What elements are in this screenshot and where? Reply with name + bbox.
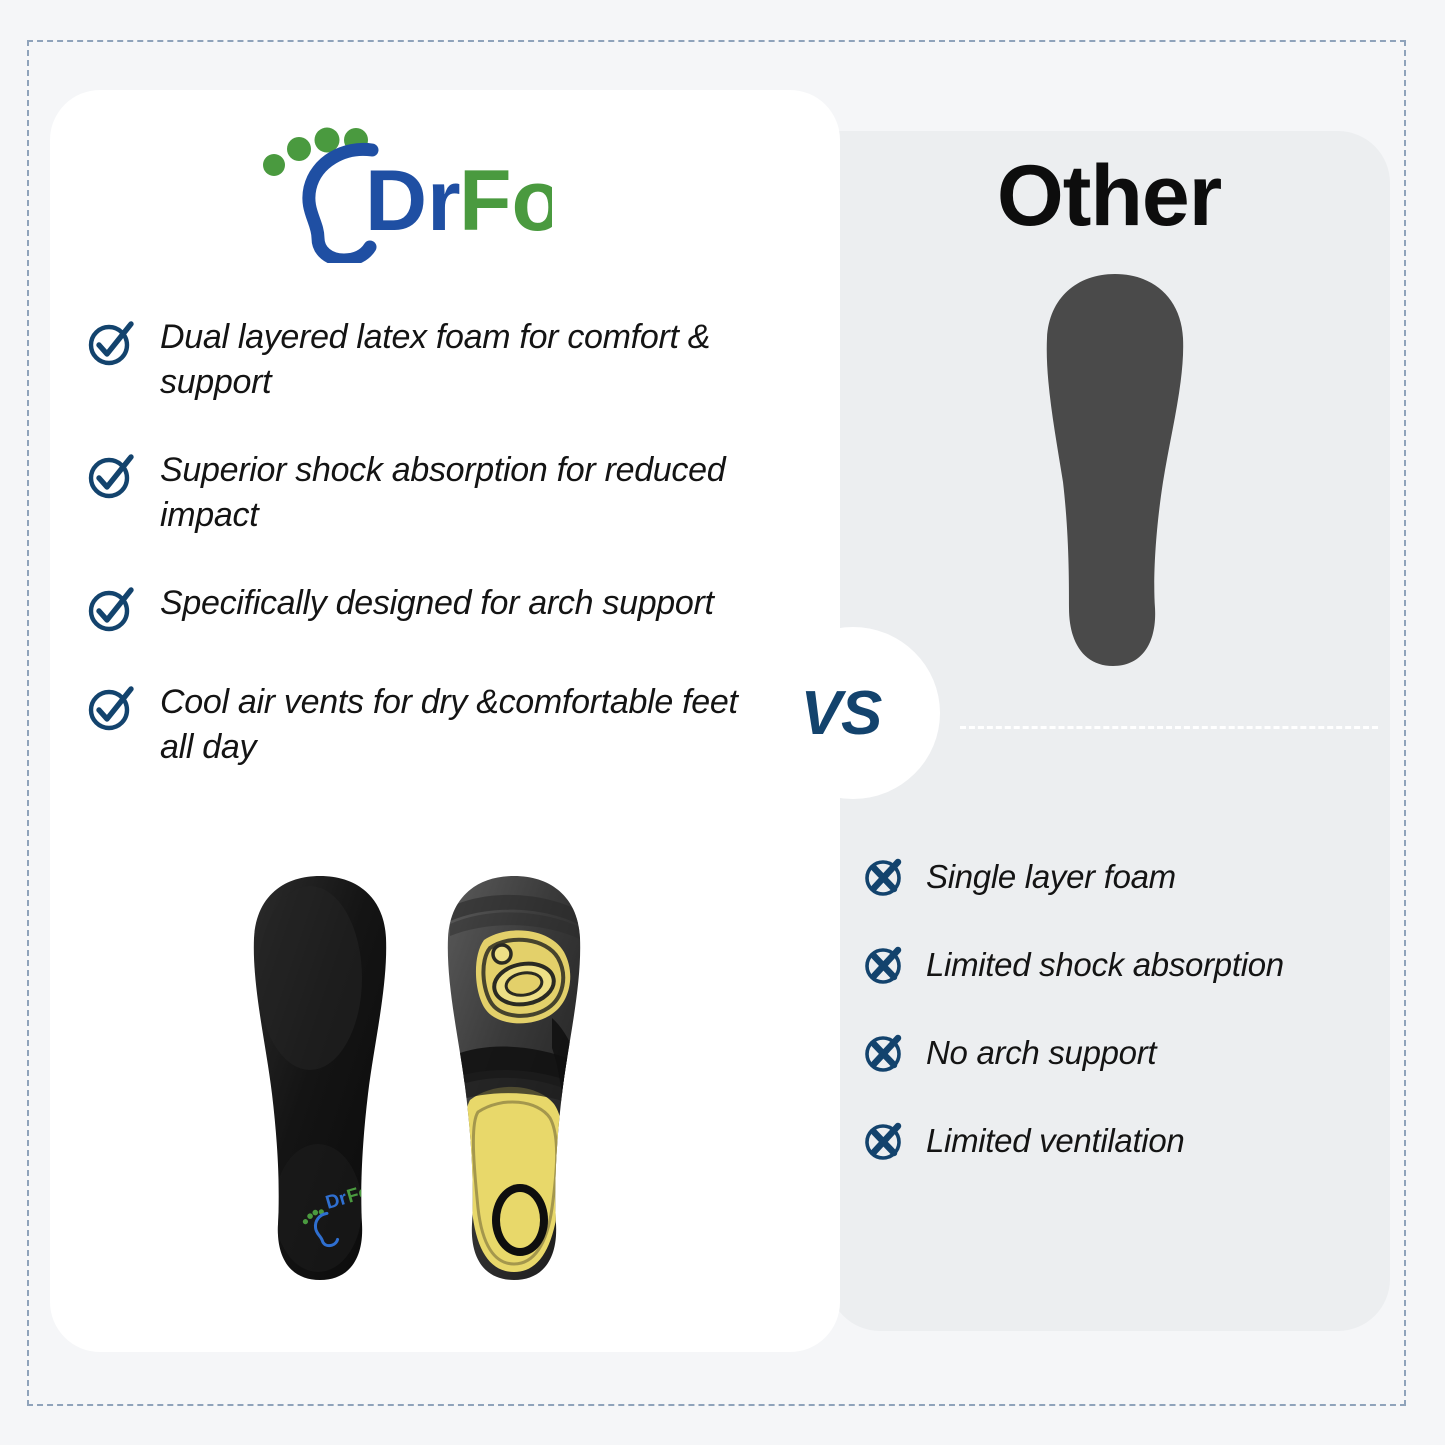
con-label: No arch support	[926, 1033, 1156, 1073]
vs-label: VS	[801, 678, 882, 749]
feature-item: Dual layered latex foam for comfort & su…	[88, 315, 778, 405]
black-insole: Dr Foot	[252, 868, 399, 1288]
check-circle-icon	[88, 587, 134, 633]
logo-text-dr: Dr	[365, 153, 461, 249]
feature-list: Dual layered latex foam for comfort & su…	[88, 315, 778, 770]
cons-list: Single layer foam Limited shock absorpti…	[864, 855, 1374, 1163]
drfoot-insole-pair-image: Dr Foot	[252, 868, 592, 1288]
logo-text-foot: Foot	[459, 153, 552, 249]
feature-label: Superior shock absorption for reduced im…	[160, 448, 770, 538]
con-label: Limited shock absorption	[926, 945, 1284, 985]
other-panel-title: Other	[828, 148, 1390, 244]
check-circle-icon	[88, 454, 134, 500]
feature-label: Dual layered latex foam for comfort & su…	[160, 315, 770, 405]
x-circle-icon	[864, 857, 904, 897]
x-circle-icon	[864, 1033, 904, 1073]
gel-insole	[442, 868, 592, 1288]
con-item: Single layer foam	[864, 855, 1374, 899]
check-circle-icon	[88, 686, 134, 732]
x-circle-icon	[864, 1121, 904, 1161]
x-circle-icon	[864, 945, 904, 985]
panel-divider	[960, 726, 1378, 729]
feature-item: Superior shock absorption for reduced im…	[88, 448, 778, 538]
plain-insole-icon	[1035, 272, 1195, 668]
drfoot-logo: Dr Foot	[252, 118, 552, 263]
feature-item: Cool air vents for dry &comfortable feet…	[88, 680, 778, 770]
feature-item: Specifically designed for arch support	[88, 581, 778, 637]
con-item: Limited shock absorption	[864, 943, 1374, 987]
feature-label: Cool air vents for dry &comfortable feet…	[160, 680, 770, 770]
con-item: No arch support	[864, 1031, 1374, 1075]
infographic-canvas: Dr Foot Dual layered latex foam for comf…	[0, 0, 1445, 1445]
vs-badge: VS	[766, 627, 940, 799]
con-item: Limited ventilation	[864, 1119, 1374, 1163]
foot-icon	[263, 128, 372, 261]
check-circle-icon	[88, 321, 134, 367]
con-label: Single layer foam	[926, 857, 1176, 897]
feature-label: Specifically designed for arch support	[160, 581, 714, 626]
con-label: Limited ventilation	[926, 1121, 1184, 1161]
